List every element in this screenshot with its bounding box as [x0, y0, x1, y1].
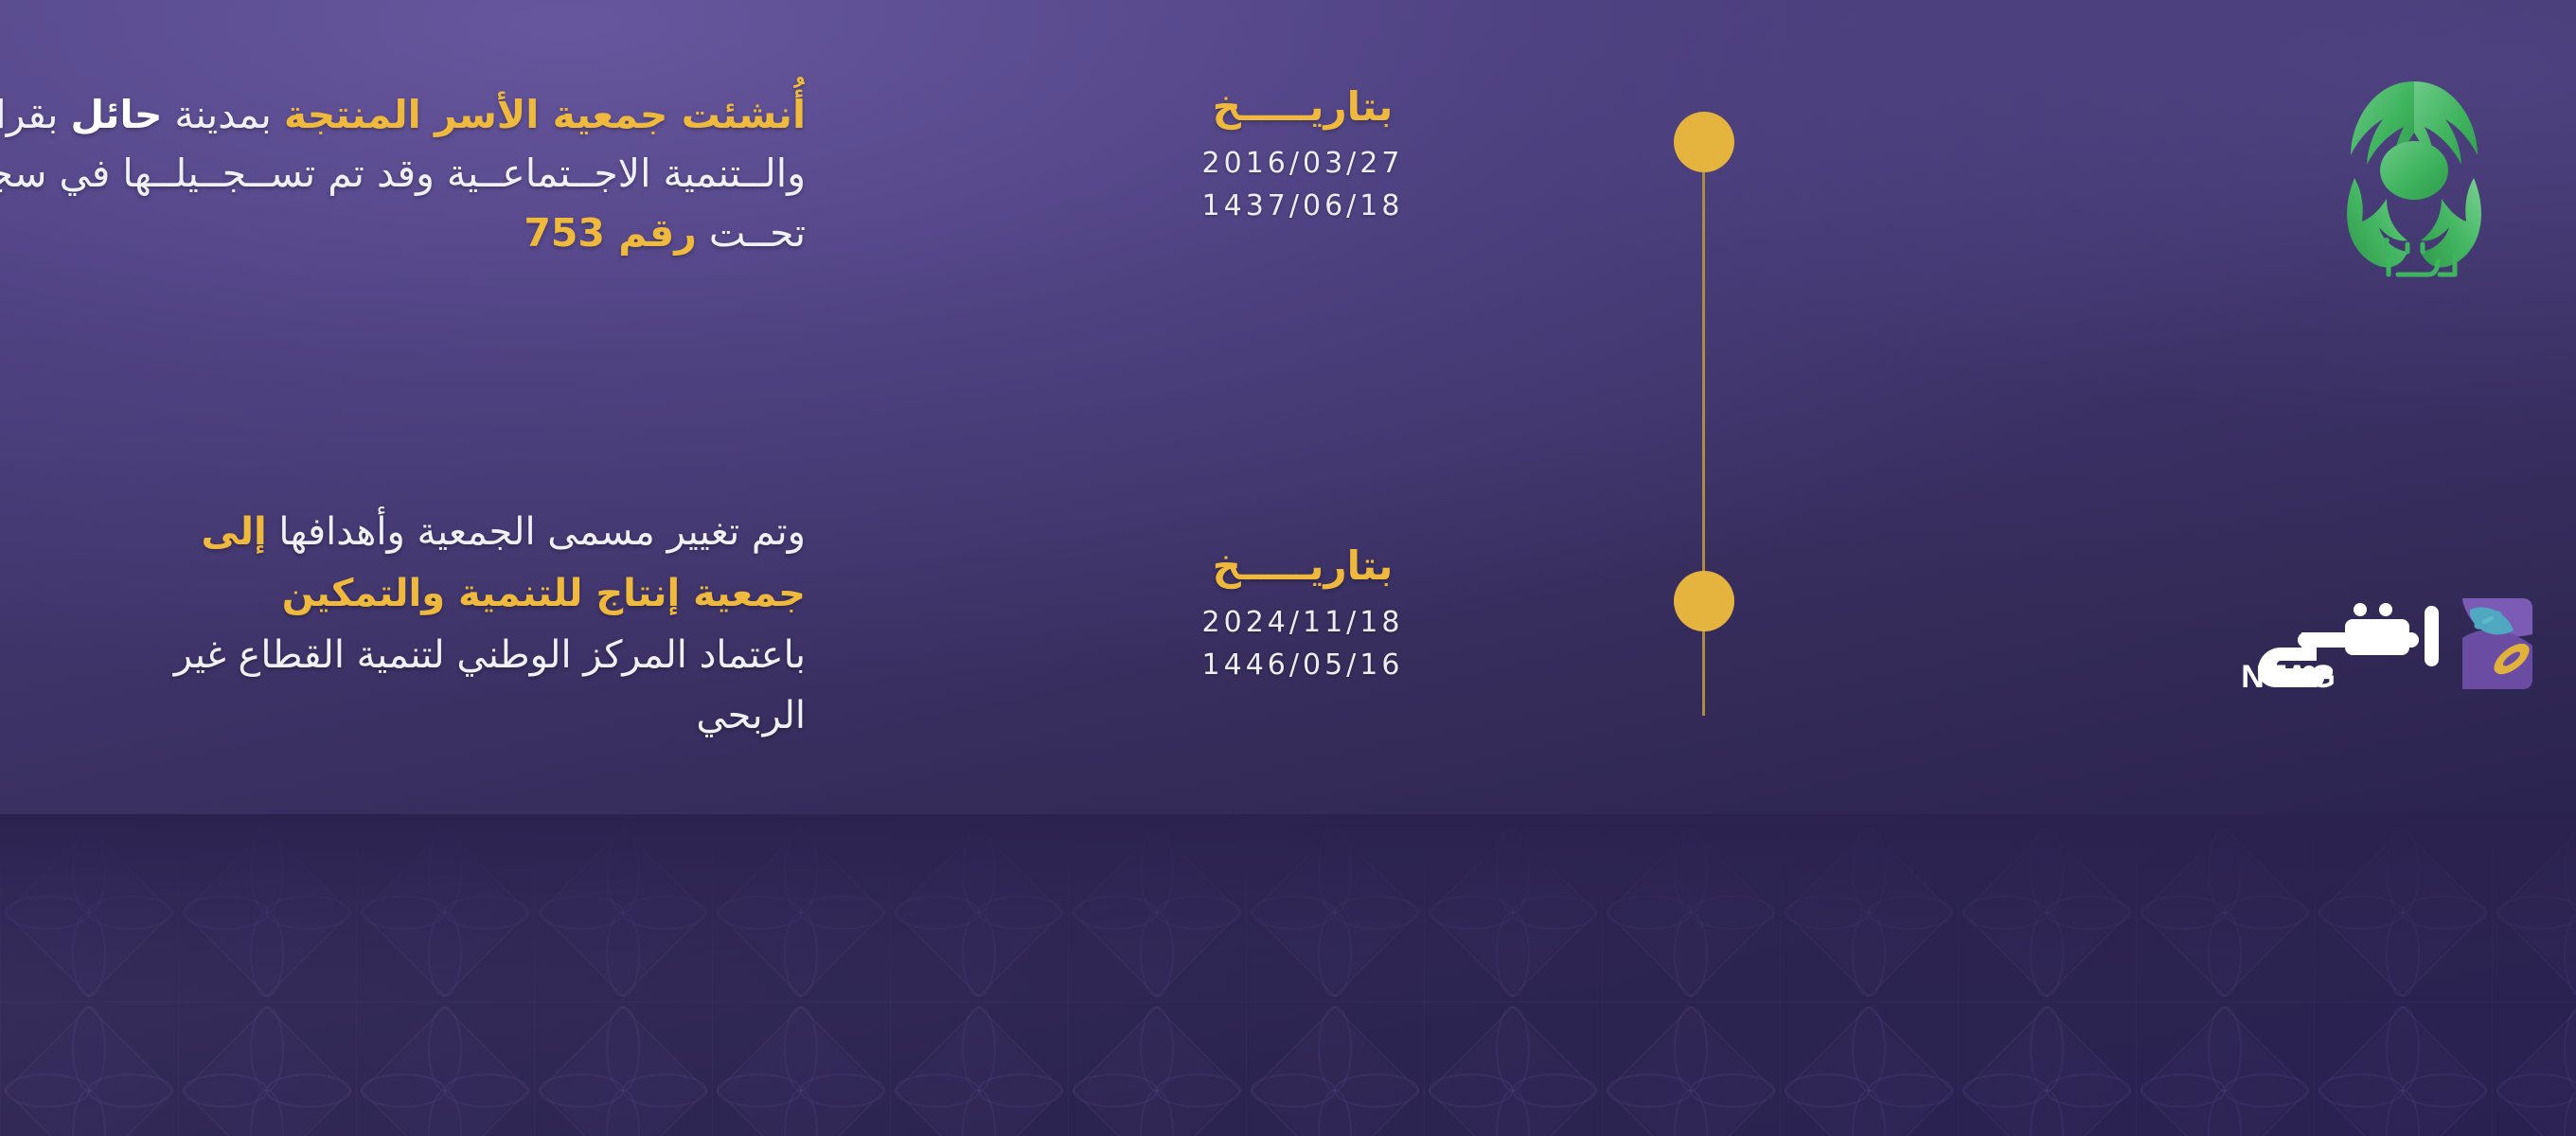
- entry-2016-line2-a: والــتنمية الاجــتماعــية وقد تم تســجــ…: [0, 151, 806, 196]
- pattern-fade-overlay: [0, 814, 2576, 1136]
- timeline-dot-2024: [1674, 571, 1734, 631]
- entag-wordmark-logo: ENTAG: [2239, 577, 2542, 710]
- timeline-dot-2016: [1674, 112, 1734, 172]
- entag-latin-text: ENTAG: [2239, 659, 2337, 695]
- entry-2016-paragraph: أُنشئت جمعية الأسر المنتجة بمدينة حائل ب…: [95, 85, 806, 262]
- entry-2024-date-label: بتاريـــــخ: [1146, 544, 1459, 588]
- entry-2016-date-label: بتاريـــــخ: [1146, 85, 1459, 129]
- background-pattern: [0, 824, 2576, 1136]
- entry-2016-city: حائل: [70, 92, 162, 137]
- entry-2016-line3-a: تحــت: [697, 210, 806, 256]
- entry-2016-date-block: بتاريـــــخ 2016/03/27 1437/06/18: [1146, 85, 1459, 227]
- entry-2024-line-1: وتم تغيير مسمى الجمعية وأهدافها إلى جمعي…: [133, 502, 806, 625]
- entry-2016-line-2: والــتنمية الاجــتماعــية وقد تم تســجــ…: [95, 144, 806, 203]
- entry-2016-hijri-date: 1437/06/18: [1146, 185, 1459, 227]
- entry-2024-line-2: باعتماد المركز الوطني لتنمية القطاع غير …: [133, 625, 806, 748]
- timeline-page: أُنشئت جمعية الأسر المنتجة بمدينة حائل ب…: [0, 0, 2576, 1136]
- entry-2024-line2-a: باعتماد المركز الوطني لتنمية القطاع غير …: [174, 633, 806, 738]
- entry-2016-line1-b: بمدينة: [162, 92, 283, 137]
- entry-2016-line-1: أُنشئت جمعية الأسر المنتجة بمدينة حائل ب…: [95, 85, 806, 144]
- entag-green-logo: [2296, 49, 2532, 295]
- entry-2024-hijri-date: 1446/05/16: [1146, 644, 1459, 686]
- entry-2016-gregorian-date: 2016/03/27: [1146, 142, 1459, 185]
- entry-2016-line-3: تحــت رقم 753: [95, 204, 806, 262]
- entry-2024-line1-a: وتم تغيير مسمى الجمعية وأهدافها: [267, 510, 806, 554]
- entry-2016-line1-d: بقرار من مــعالي وزير العــمل: [0, 92, 70, 137]
- entry-2024-gregorian-date: 2024/11/18: [1146, 601, 1459, 644]
- entry-2016-org-name: أُنشئت جمعية الأسر المنتجة: [284, 92, 806, 137]
- entry-2024-date-block: بتاريـــــخ 2024/11/18 1446/05/16: [1146, 544, 1459, 686]
- entry-2016-registration-number: رقم 753: [524, 210, 696, 256]
- entry-2024-paragraph: وتم تغيير مسمى الجمعية وأهدافها إلى جمعي…: [133, 502, 806, 747]
